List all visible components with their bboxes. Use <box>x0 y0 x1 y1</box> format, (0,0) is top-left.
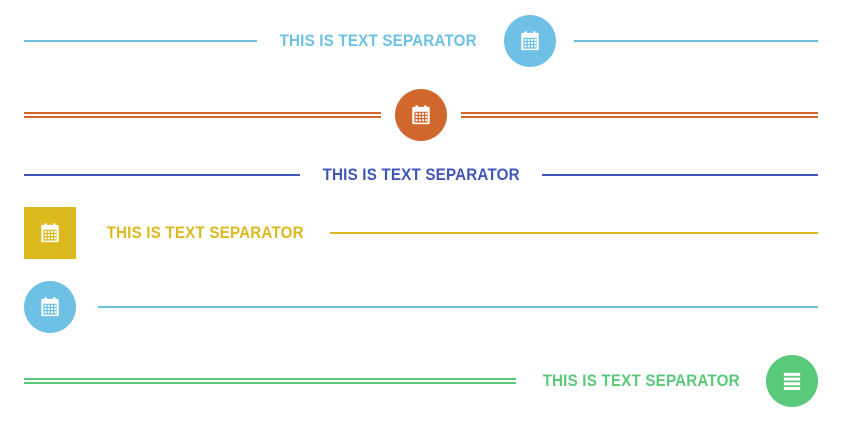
separator-3-label: THIS IS TEXT SEPARATOR <box>322 167 519 184</box>
calendar-icon <box>519 30 541 52</box>
separator-2-rule-left <box>24 112 381 118</box>
separator-5-calendar-icon[interactable] <box>24 281 76 333</box>
separator-6-bars-icon[interactable] <box>766 355 818 407</box>
separator-2-calendar-icon[interactable] <box>395 89 447 141</box>
separator-2-rule-right <box>461 112 818 118</box>
separator-6-label: THIS IS TEXT SEPARATOR <box>542 373 739 390</box>
separator-3-rule-right <box>542 174 818 176</box>
separator-6-rule-left <box>24 378 516 384</box>
separator-5-rule-right <box>98 306 818 308</box>
calendar-icon <box>410 104 432 126</box>
separator-1-rule-left <box>24 40 257 42</box>
separator-4-rule-right <box>330 232 818 234</box>
separator-1-rule-right <box>574 40 818 42</box>
separator-4-calendar-icon[interactable] <box>24 207 76 259</box>
separator-2 <box>0 89 842 141</box>
separator-6: THIS IS TEXT SEPARATOR <box>0 355 842 407</box>
separator-1-label: THIS IS TEXT SEPARATOR <box>280 33 477 50</box>
bars-icon <box>781 371 803 391</box>
calendar-icon <box>39 222 61 244</box>
separator-3: THIS IS TEXT SEPARATOR <box>0 163 842 187</box>
separator-1-calendar-icon[interactable] <box>504 15 556 67</box>
separator-3-rule-left <box>24 174 300 176</box>
separators-demo-canvas: THIS IS TEXT SEPARATOR <box>0 0 842 424</box>
separator-4: THIS IS TEXT SEPARATOR <box>0 207 842 259</box>
separator-1: THIS IS TEXT SEPARATOR <box>0 15 842 67</box>
separator-4-label: THIS IS TEXT SEPARATOR <box>107 225 304 242</box>
separator-5 <box>0 281 842 333</box>
calendar-icon <box>39 296 61 318</box>
